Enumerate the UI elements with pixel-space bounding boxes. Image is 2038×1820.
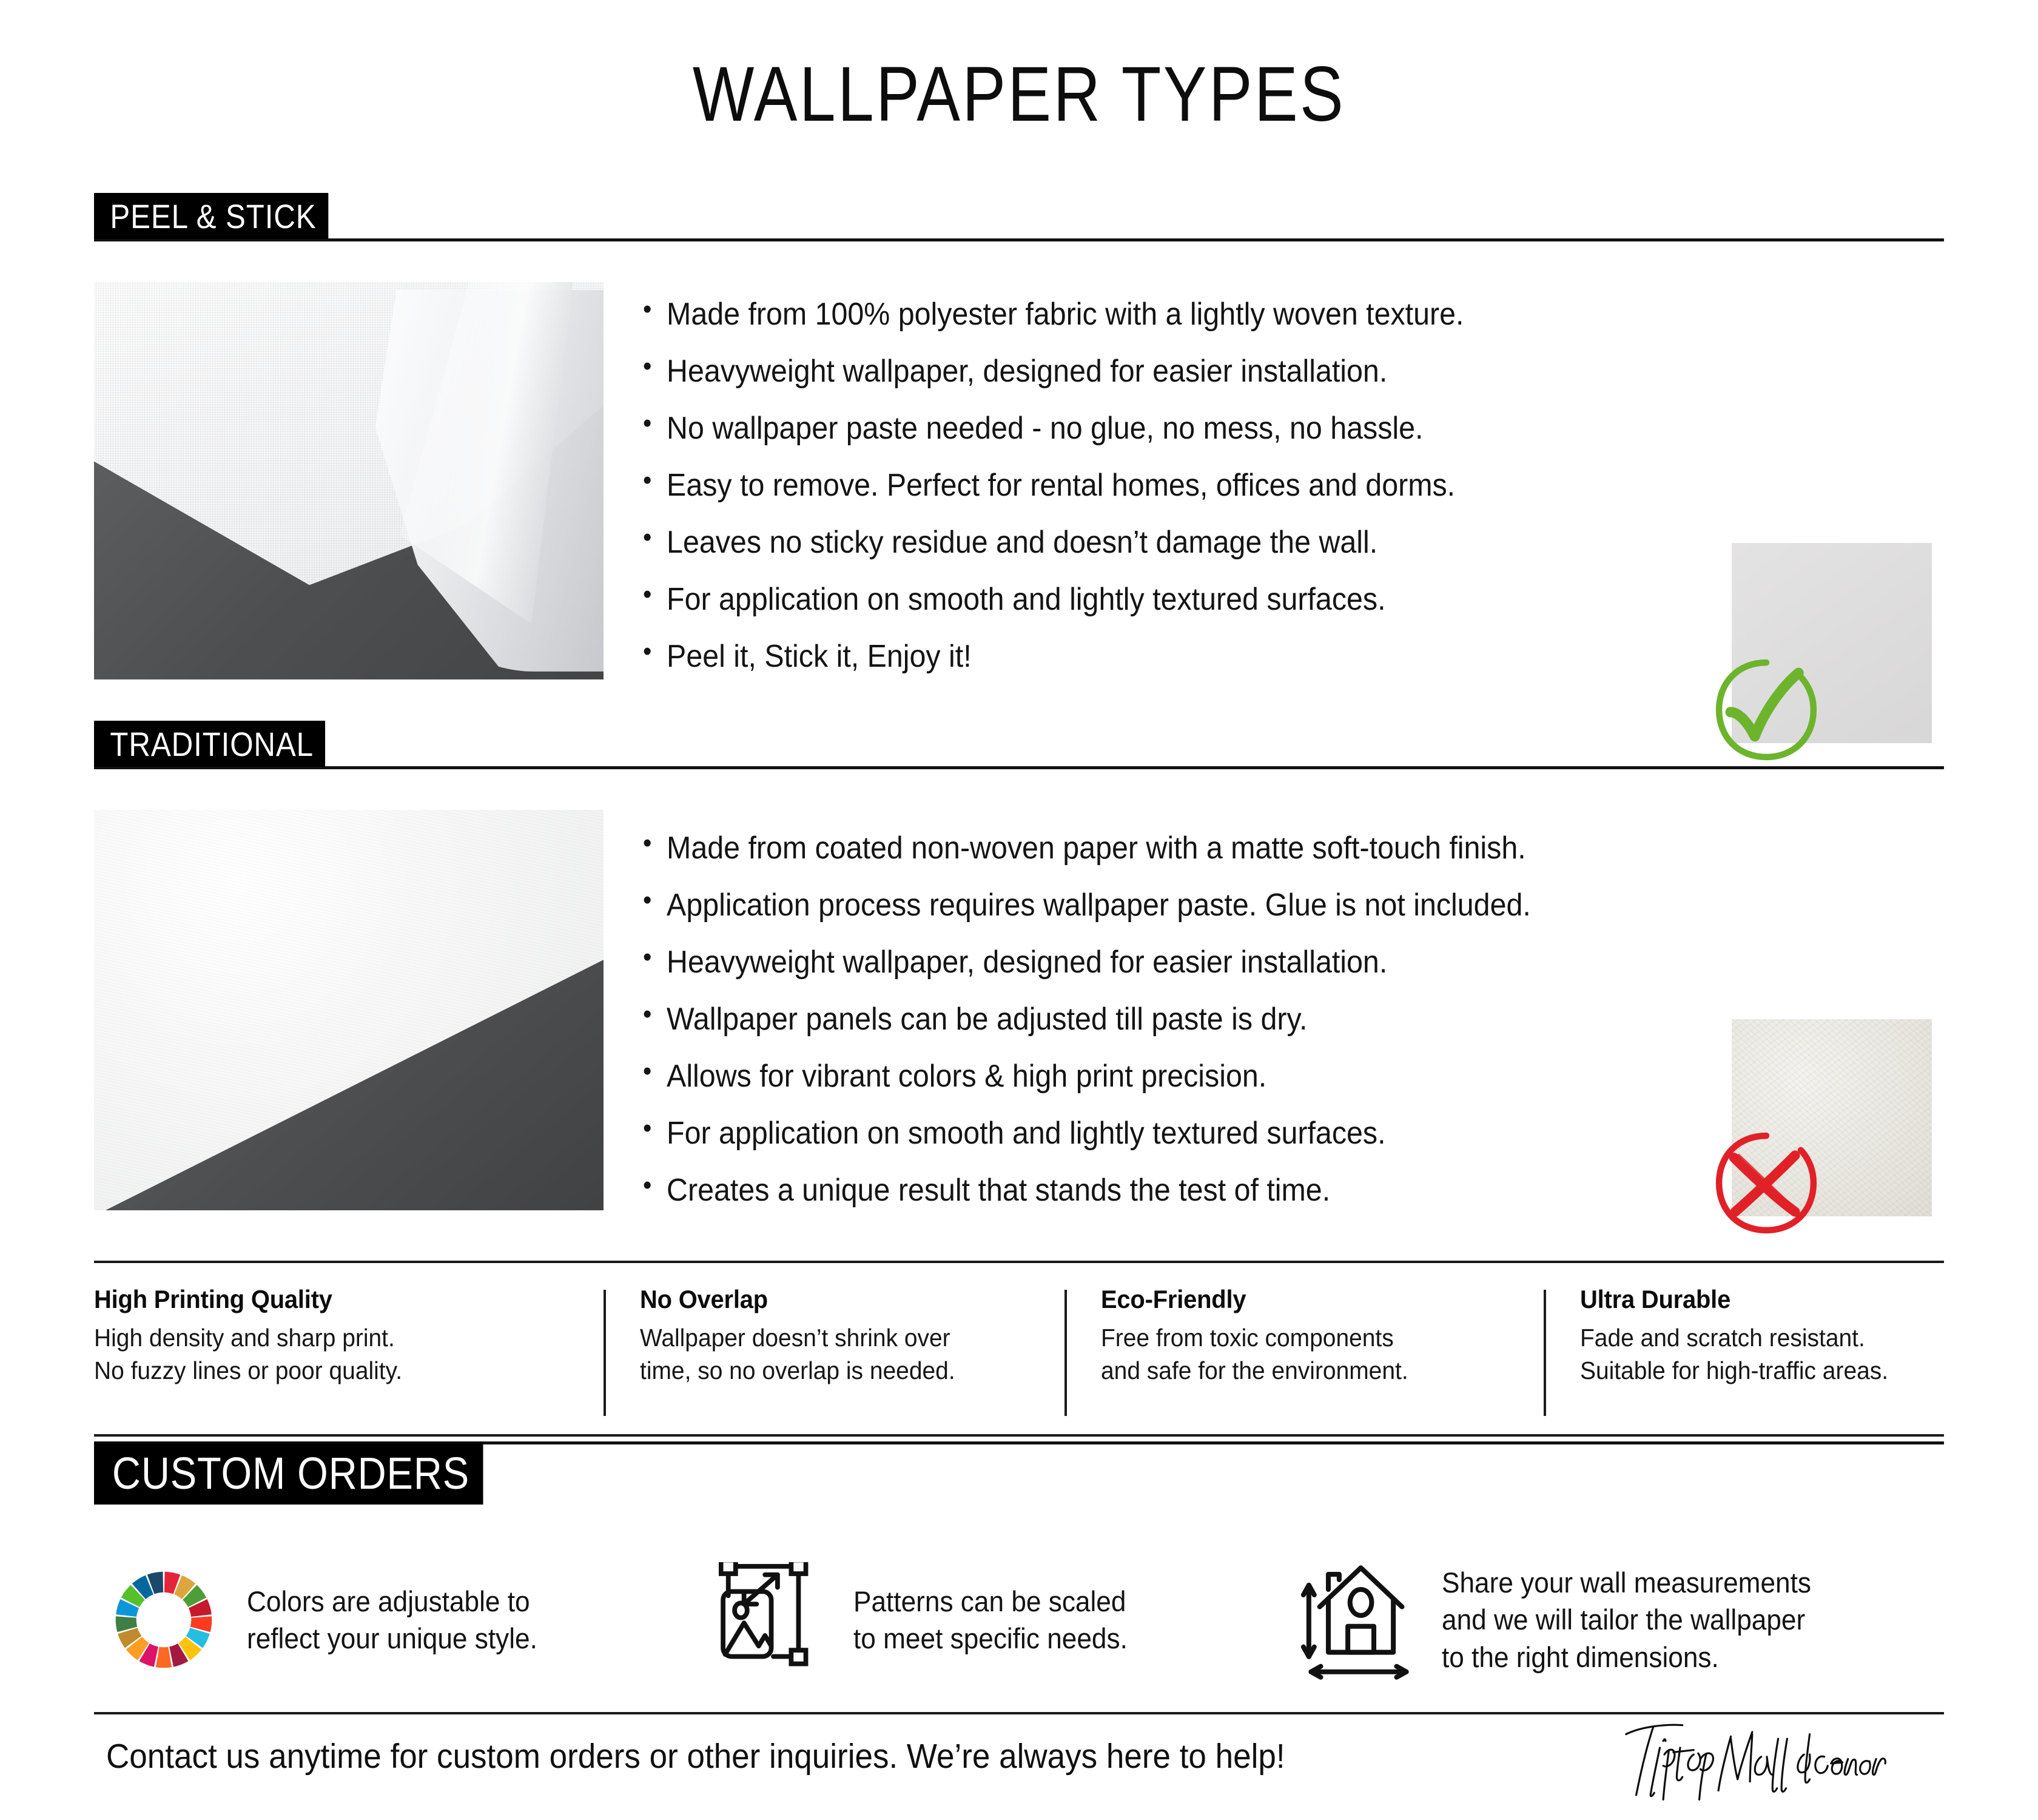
list-item: Allows for vibrant colors & high print p…: [643, 1060, 1531, 1092]
feature-title: No Overlap: [640, 1285, 1020, 1314]
page-title: WALLPAPER TYPES: [163, 56, 1875, 133]
custom-order-item-scaling: Patterns can be scaled to meet specific …: [719, 1541, 1301, 1699]
features-top-rule: [94, 1261, 1944, 1263]
custom-order-text: Patterns can be scaled to meet specific …: [853, 1583, 1128, 1657]
section-rule: [94, 766, 1944, 769]
list-item: Heavyweight wallpaper, designed for easi…: [643, 946, 1531, 978]
feature-title: Eco-Friendly: [1101, 1285, 1499, 1314]
footer-text: Contact us anytime for custom orders or …: [106, 1736, 1285, 1776]
list-item: Made from coated non-woven paper with a …: [643, 832, 1531, 864]
feature-line-2: time, so no overlap is needed.: [640, 1354, 1020, 1387]
feature-title: Ultra Durable: [1580, 1285, 1903, 1314]
color-wheel-icon: [106, 1559, 221, 1680]
brand-logo-signature: Tiptop Walldecor: [1589, 1723, 1929, 1802]
custom-order-item-measurements: Share your wall measurements and we will…: [1301, 1541, 1950, 1699]
feature-column-high-printing-quality: High Printing Quality High density and s…: [94, 1285, 604, 1424]
custom-order-line-1: Colors are adjustable to: [247, 1583, 537, 1620]
section-header-custom-orders: CUSTOM ORDERS: [94, 1441, 1944, 1508]
list-item: Wallpaper panels can be adjusted till pa…: [643, 1003, 1531, 1035]
section-tag-label: CUSTOM ORDERS: [94, 1441, 483, 1505]
section-tag-label: PEEL & STICK: [94, 193, 328, 239]
feature-column-ultra-durable: Ultra Durable Fade and scratch resistant…: [1544, 1285, 1944, 1424]
peel-and-stick-bullet-list: Made from 100% polyester fabric with a l…: [643, 298, 1525, 698]
custom-order-text: Share your wall measurements and we will…: [1442, 1564, 1811, 1675]
infographic-page: WALLPAPER TYPES PEEL & STICK Made from 1…: [0, 0, 2038, 1820]
feature-line-2: Suitable for high-traffic areas.: [1580, 1354, 1903, 1387]
feature-line-2: No fuzzy lines or poor quality.: [94, 1354, 555, 1387]
feature-line-1: Free from toxic components: [1101, 1321, 1499, 1354]
list-item: No wallpaper paste needed - no glue, no …: [643, 413, 1464, 444]
custom-order-line-1: Share your wall measurements: [1442, 1564, 1811, 1601]
custom-order-text: Colors are adjustable to reflect your un…: [247, 1583, 537, 1657]
list-item: Application process requires wallpaper p…: [643, 889, 1531, 921]
custom-orders-row: Colors are adjustable to reflect your un…: [106, 1541, 1950, 1699]
traditional-photo: [94, 810, 604, 1210]
list-item: For application on smooth and lightly te…: [643, 584, 1464, 615]
scale-image-icon: [719, 1562, 828, 1677]
traditional-swatch: [1732, 1019, 1932, 1216]
house-measure-icon: [1301, 1559, 1416, 1680]
custom-order-line-1: Patterns can be scaled: [853, 1583, 1128, 1620]
feature-column-no-overlap: No Overlap Wallpaper doesn’t shrink over…: [604, 1285, 1064, 1424]
custom-order-line-3: to the right dimensions.: [1442, 1639, 1811, 1676]
section-header-peel-and-stick: PEEL & STICK: [94, 193, 1944, 241]
custom-order-item-colors: Colors are adjustable to reflect your un…: [106, 1541, 719, 1699]
list-item: Heavyweight wallpaper, designed for easi…: [643, 356, 1464, 387]
feature-line-1: Wallpaper doesn’t shrink over: [640, 1321, 1020, 1354]
peel-and-stick-photo: [94, 282, 604, 679]
list-item: For application on smooth and lightly te…: [643, 1117, 1531, 1149]
section-rule: [94, 238, 1944, 241]
feature-line-1: High density and sharp print.: [94, 1321, 555, 1354]
traditional-bullet-list: Made from coated non-woven paper with a …: [643, 832, 1598, 1232]
list-item: Leaves no sticky residue and doesn’t dam…: [643, 527, 1464, 558]
list-item: Made from 100% polyester fabric with a l…: [643, 298, 1464, 330]
peel-and-stick-swatch: [1732, 543, 1932, 743]
custom-order-line-2: reflect your unique style.: [247, 1620, 537, 1657]
feature-line-2: and safe for the environment.: [1101, 1354, 1499, 1387]
feature-column-eco-friendly: Eco-Friendly Free from toxic components …: [1064, 1285, 1544, 1424]
section-tag-label: TRADITIONAL: [94, 721, 325, 767]
color-wheel-segment: [156, 1647, 172, 1668]
features-bottom-rule: [94, 1434, 1944, 1437]
list-item: Creates a unique result that stands the …: [643, 1175, 1531, 1206]
custom-order-line-2: to meet specific needs.: [853, 1620, 1128, 1657]
section-header-traditional: TRADITIONAL: [94, 721, 1944, 769]
footer-rule: [94, 1712, 1944, 1714]
feature-line-1: Fade and scratch resistant.: [1580, 1321, 1903, 1354]
cross-icon: [1709, 1125, 1824, 1241]
features-row: High Printing Quality High density and s…: [94, 1285, 1944, 1424]
list-item: Peel it, Stick it, Enjoy it!: [643, 641, 1464, 672]
feature-title: High Printing Quality: [94, 1285, 555, 1314]
custom-order-line-2: and we will tailor the wallpaper: [1442, 1601, 1811, 1638]
list-item: Easy to remove. Perfect for rental homes…: [643, 470, 1464, 501]
